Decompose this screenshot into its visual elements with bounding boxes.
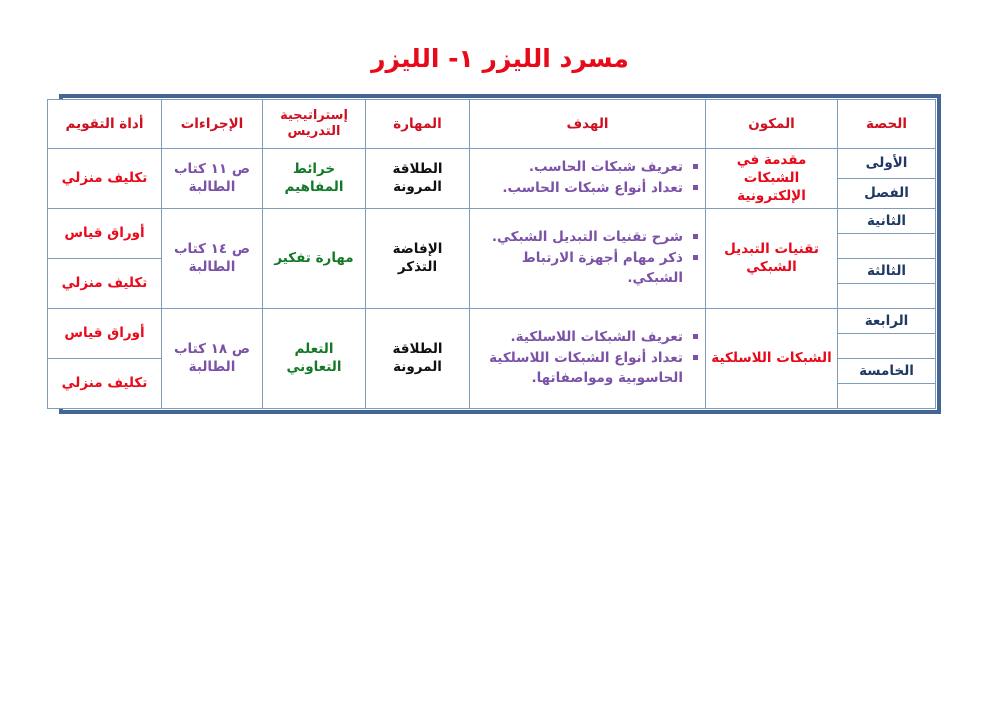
objective-cell: تعريف الشبكات اللاسلكية. تعداد أنواع الش… xyxy=(470,308,706,408)
skill-line1: الطلاقة xyxy=(392,161,442,177)
objective-cell: تعريف شبكات الحاسب. تعداد أنواع شبكات ال… xyxy=(470,149,706,209)
lesson-plan-table-container: الحصة المكون الهدف المهارة إستراتيجية ال… xyxy=(59,94,941,414)
skill-line1: الطلاقة xyxy=(392,341,442,357)
objective-item: تعريف شبكات الحاسب. xyxy=(474,157,685,177)
skill-cell: الطلاقة المرونة xyxy=(366,308,470,408)
table-row: الرابعة الشبكات اللاسلكية تعريف الشبكات … xyxy=(48,308,936,333)
objective-item: تعريف الشبكات اللاسلكية. xyxy=(474,327,685,347)
session-cell: الفصل xyxy=(838,178,936,208)
session-cell: الأولى xyxy=(838,149,936,179)
table-header: الحصة المكون الهدف المهارة إستراتيجية ال… xyxy=(48,100,936,149)
assessment-cell: تكليف منزلي xyxy=(48,358,162,408)
objective-item: شرح تقنيات التبديل الشبكي. xyxy=(474,227,685,247)
procedure-line1: ص ١٤ كتاب xyxy=(174,241,250,257)
session-cell xyxy=(838,333,936,358)
procedure-line1: ص ١٨ كتاب xyxy=(174,341,250,357)
lesson-plan-table: الحصة المكون الهدف المهارة إستراتيجية ال… xyxy=(47,99,936,409)
column-header-skill: المهارة xyxy=(366,100,470,149)
session-cell: الخامسة xyxy=(838,358,936,383)
document-page: مسرد الليزر ١- الليزر الحصة المكون الهدف… xyxy=(0,0,1000,707)
column-header-component: المكون xyxy=(706,100,838,149)
skill-cell: الطلاقة المرونة xyxy=(366,149,470,209)
column-header-strategy: إستراتيجية التدريس xyxy=(263,100,366,149)
procedure-line2: الطالبة xyxy=(189,359,236,375)
procedure-line1: ص ١١ كتاب xyxy=(174,161,250,177)
session-cell: الثانية xyxy=(838,208,936,233)
strategy-cell: التعلم التعاوني xyxy=(263,308,366,408)
column-header-assessment: أداة التقويم xyxy=(48,100,162,149)
skill-cell: الإفاضة التذكر xyxy=(366,208,470,308)
session-cell xyxy=(838,283,936,308)
strategy-header-line1: إستراتيجية xyxy=(280,108,348,123)
table-row: الثانية تقنيات التبديل الشبكي شرح تقنيات… xyxy=(48,208,936,233)
procedure-cell: ص ١٨ كتاب الطالبة xyxy=(162,308,263,408)
objective-list: تعريف شبكات الحاسب. تعداد أنواع شبكات ال… xyxy=(474,157,701,199)
component-cell: الشبكات اللاسلكية xyxy=(706,308,838,408)
assessment-cell: أوراق قياس xyxy=(48,308,162,358)
table-body: الأولى مقدمة في الشبكات الإلكترونية تعري… xyxy=(48,149,936,409)
session-cell: الثالثة xyxy=(838,258,936,283)
session-cell xyxy=(838,233,936,258)
objective-cell: شرح تقنيات التبديل الشبكي. ذكر مهام أجهز… xyxy=(470,208,706,308)
assessment-cell: تكليف منزلي xyxy=(48,258,162,308)
component-line2: الإلكترونية xyxy=(737,188,806,204)
header-row: الحصة المكون الهدف المهارة إستراتيجية ال… xyxy=(48,100,936,149)
skill-line2: المرونة xyxy=(393,359,442,375)
column-header-session: الحصة xyxy=(838,100,936,149)
component-cell: تقنيات التبديل الشبكي xyxy=(706,208,838,308)
session-cell xyxy=(838,383,936,408)
objective-item: تعداد أنواع شبكات الحاسب. xyxy=(474,178,685,198)
column-header-objective: الهدف xyxy=(470,100,706,149)
procedure-cell: ص ١٤ كتاب الطالبة xyxy=(162,208,263,308)
procedure-line2: الطالبة xyxy=(189,259,236,275)
component-line1: مقدمة في الشبكات xyxy=(737,152,807,186)
skill-line1: الإفاضة xyxy=(393,241,443,257)
objective-list: تعريف الشبكات اللاسلكية. تعداد أنواع الش… xyxy=(474,327,701,389)
objective-item: تعداد أنواع الشبكات اللاسلكية الحاسوبية … xyxy=(474,348,685,389)
strategy-cell: خرائط المفاهيم xyxy=(263,149,366,209)
table-row: الأولى مقدمة في الشبكات الإلكترونية تعري… xyxy=(48,149,936,179)
skill-line2: المرونة xyxy=(393,179,442,195)
column-header-procedures: الإجراءات xyxy=(162,100,263,149)
procedure-line2: الطالبة xyxy=(189,179,236,195)
objective-list: شرح تقنيات التبديل الشبكي. ذكر مهام أجهز… xyxy=(474,227,701,289)
component-cell: مقدمة في الشبكات الإلكترونية xyxy=(706,149,838,209)
procedure-cell: ص ١١ كتاب الطالبة xyxy=(162,149,263,209)
session-cell: الرابعة xyxy=(838,308,936,333)
skill-line2: التذكر xyxy=(398,259,437,275)
assessment-cell: تكليف منزلي xyxy=(48,149,162,209)
strategy-cell: مهارة تفكير xyxy=(263,208,366,308)
strategy-header-line2: التدريس xyxy=(288,124,341,139)
objective-item: ذكر مهام أجهزة الارتباط الشبكي. xyxy=(474,248,685,289)
assessment-cell: أوراق قياس xyxy=(48,208,162,258)
page-title: مسرد الليزر ١- الليزر xyxy=(0,44,1000,73)
